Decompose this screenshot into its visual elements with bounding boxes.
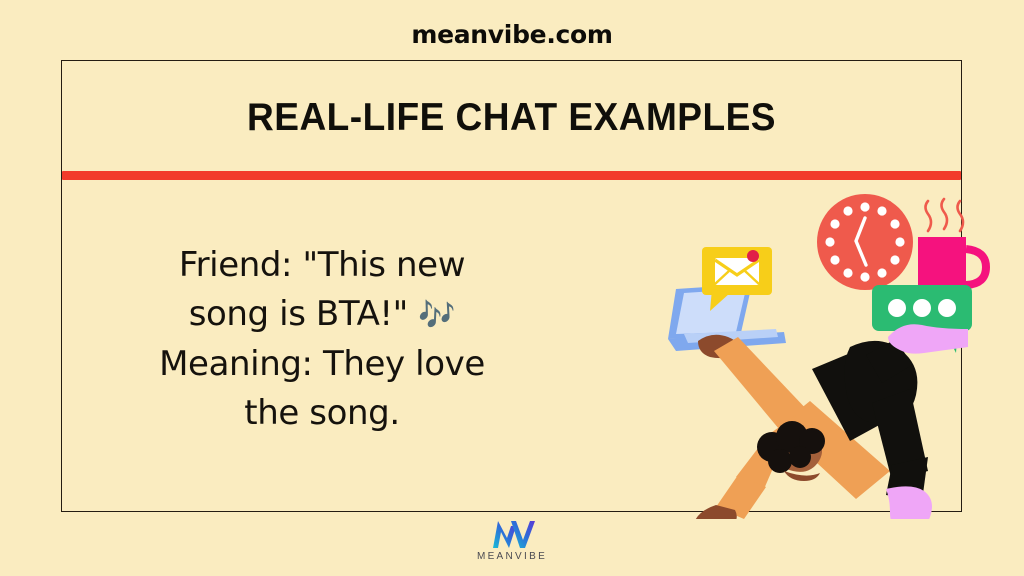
chat-dot-3 (938, 299, 956, 317)
clock-icon (817, 194, 913, 290)
body-line-1: Friend: "This new (107, 241, 537, 290)
musical-notes-icon: 🎶 (418, 298, 455, 333)
envelope-icon (715, 258, 759, 285)
poster-canvas: meanvibe.com REAL-LIFE CHAT EXAMPLES Fri… (0, 0, 1024, 576)
hero-illustration (660, 189, 990, 519)
body-line-2: song is BTA!" 🎶 (107, 290, 537, 340)
meanvibe-logo-icon (489, 518, 535, 550)
body-copy: Friend: "This new song is BTA!" 🎶 Meanin… (107, 241, 537, 438)
person-figure (693, 324, 968, 519)
meanvibe-wordmark: MEANVIBE (0, 551, 1024, 562)
coffee-mug-icon (918, 199, 986, 289)
content-card: REAL-LIFE CHAT EXAMPLES Friend: "This ne… (61, 60, 962, 512)
red-divider-line (62, 171, 961, 180)
chat-dot-1 (888, 299, 906, 317)
body-line-4: the song. (107, 389, 537, 438)
chat-dot-2 (913, 299, 931, 317)
steam-lines (926, 199, 964, 231)
body-line-3: Meaning: They love (107, 340, 537, 389)
footer-branding: MEANVIBE (0, 512, 1024, 562)
page-title: REAL-LIFE CHAT EXAMPLES (84, 96, 938, 140)
body-line-2-text: song is BTA!" (189, 294, 408, 334)
site-name-header: meanvibe.com (0, 20, 1024, 49)
notification-dot (747, 250, 759, 262)
